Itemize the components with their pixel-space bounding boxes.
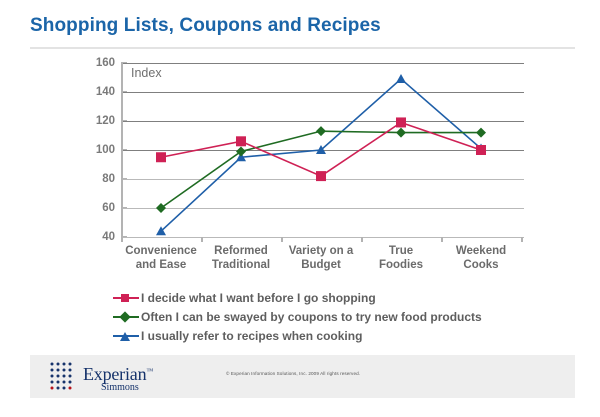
legend-label: Often I can be swayed by coupons to try …	[139, 310, 482, 324]
marker-square	[476, 145, 486, 155]
legend-diamond-marker-icon	[113, 310, 139, 324]
legend-square-marker-icon	[113, 291, 139, 305]
x-tick-mark	[201, 237, 203, 242]
simmons-subbrand: Simmons	[101, 382, 139, 394]
marker-square	[396, 117, 406, 127]
slide-canvas: Shopping Lists, Coupons and Recipes 160 …	[0, 0, 600, 417]
x-tick-mark	[121, 237, 123, 242]
y-tick-label: 40	[81, 232, 115, 243]
x-category-line: Variety on a	[278, 244, 364, 258]
x-category-line: and Ease	[118, 258, 204, 272]
experian-wordmark-text: Experian	[83, 364, 146, 384]
x-category-line: Traditional	[198, 258, 284, 272]
x-category-line: True	[358, 244, 444, 258]
trademark-symbol: ™	[146, 367, 153, 375]
x-tick-mark	[521, 237, 523, 242]
series-line	[161, 131, 481, 208]
marker-diamond	[316, 126, 326, 136]
x-category-line: Weekend	[438, 244, 524, 258]
y-tick-label: 140	[81, 87, 115, 98]
y-tick-label: 120	[81, 116, 115, 127]
x-category-label: Weekend Cooks	[438, 244, 524, 272]
y-tick-label: 160	[81, 58, 115, 69]
marker-square	[316, 171, 326, 181]
chart-legend: I decide what I want before I go shoppin…	[113, 288, 583, 345]
title-divider	[30, 47, 575, 49]
legend-item-decide: I decide what I want before I go shoppin…	[113, 288, 583, 307]
experian-logo: Experian™ Simmons	[48, 359, 228, 397]
marker-square	[156, 152, 166, 162]
x-category-line: Convenience	[118, 244, 204, 258]
marker-triangle	[396, 74, 406, 83]
legend-triangle-marker-icon	[113, 329, 139, 343]
x-category-line: Foodies	[358, 258, 444, 272]
title-bar: Shopping Lists, Coupons and Recipes	[30, 14, 575, 38]
series-line	[161, 79, 481, 231]
marker-diamond	[396, 128, 406, 138]
footer-bar: Experian™ Simmons © Experian Information…	[30, 355, 575, 398]
page-title: Shopping Lists, Coupons and Recipes	[30, 14, 575, 38]
x-tick-mark	[361, 237, 363, 242]
copyright-text: © Experian Information Solutions, Inc. 2…	[226, 371, 360, 376]
experian-dot-matrix-icon	[48, 361, 80, 391]
legend-item-coupons: Often I can be swayed by coupons to try …	[113, 307, 583, 326]
x-category-label: Variety on a Budget	[278, 244, 364, 272]
series-layer	[121, 63, 522, 237]
legend-item-recipes: I usually refer to recipes when cooking	[113, 326, 583, 345]
marker-square	[236, 136, 246, 146]
marker-diamond	[236, 146, 246, 156]
x-category-label: Convenience and Ease	[118, 244, 204, 272]
experian-wordmark: Experian™	[83, 361, 153, 384]
legend-label: I usually refer to recipes when cooking	[139, 329, 362, 343]
x-category-line: Reformed	[198, 244, 284, 258]
x-category-label: Reformed Traditional	[198, 244, 284, 272]
marker-diamond	[476, 128, 486, 138]
x-category-line: Budget	[278, 258, 364, 272]
marker-diamond	[156, 203, 166, 213]
x-category-line: Cooks	[438, 258, 524, 272]
y-tick-label: 60	[81, 203, 115, 214]
line-chart: 160 140 120 100 80 60 40 Index	[0, 52, 600, 292]
legend-label: I decide what I want before I go shoppin…	[139, 291, 376, 305]
gridline	[123, 237, 524, 238]
y-tick-label: 100	[81, 145, 115, 156]
x-category-label: True Foodies	[358, 244, 444, 272]
y-tick-label: 80	[81, 174, 115, 185]
x-tick-mark	[441, 237, 443, 242]
x-tick-mark	[281, 237, 283, 242]
